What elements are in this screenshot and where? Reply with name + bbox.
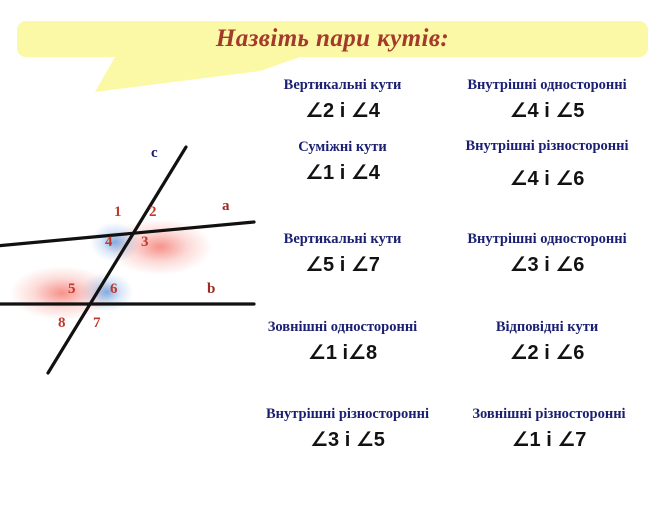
pair-right-3: Внутрішні односторонні ∠3 і ∠6	[436, 232, 658, 276]
pair-right-1-title: Внутрішні односторонні	[436, 78, 658, 94]
pair-right-5: Зовнішні різносторонні ∠1 і ∠7	[443, 407, 655, 451]
pair-left-5-value: ∠3 і ∠5	[240, 430, 455, 451]
pair-right-3-title: Внутрішні односторонні	[436, 232, 658, 248]
pair-right-1-value: ∠4 і ∠5	[436, 101, 658, 122]
pair-left-5: Внутрішні різносторонні ∠3 і ∠5	[240, 407, 455, 451]
pair-left-4-value: ∠1 і∠8	[240, 343, 445, 364]
pair-left-4: Зовнішні односторонні ∠1 і∠8	[240, 320, 445, 364]
pair-left-5-title: Внутрішні різносторонні	[240, 407, 455, 423]
angle-pairs-panel: Вертикальні кути ∠2 і ∠4 Суміжні кути ∠1…	[0, 0, 670, 525]
pair-right-5-value: ∠1 і ∠7	[443, 430, 655, 451]
pair-right-1: Внутрішні односторонні ∠4 і ∠5	[436, 78, 658, 122]
pair-right-5-title: Зовнішні різносторонні	[443, 407, 655, 423]
pair-left-3: Вертикальні кути ∠5 і ∠7	[245, 232, 440, 276]
pair-right-2-title: Внутрішні різносторонні	[436, 139, 658, 155]
pair-right-2-value: ∠4 і ∠6	[436, 169, 658, 190]
pair-right-4: Відповідні кути ∠2 і ∠6	[447, 320, 647, 364]
pair-left-1: Вертикальні кути ∠2 і ∠4	[245, 78, 440, 122]
pair-left-2-value: ∠1 і ∠4	[245, 163, 440, 184]
pair-right-3-value: ∠3 і ∠6	[436, 255, 658, 276]
pair-left-1-value: ∠2 і ∠4	[245, 101, 440, 122]
pair-left-1-title: Вертикальні кути	[245, 78, 440, 94]
pair-right-4-value: ∠2 і ∠6	[447, 343, 647, 364]
pair-left-2: Суміжні кути ∠1 і ∠4	[245, 140, 440, 184]
pair-right-2: Внутрішні різносторонні ∠4 і ∠6	[436, 139, 658, 190]
pair-left-4-title: Зовнішні односторонні	[240, 320, 445, 336]
pair-left-3-title: Вертикальні кути	[245, 232, 440, 248]
pair-left-2-title: Суміжні кути	[245, 140, 440, 156]
pair-left-3-value: ∠5 і ∠7	[245, 255, 440, 276]
pair-right-4-title: Відповідні кути	[447, 320, 647, 336]
